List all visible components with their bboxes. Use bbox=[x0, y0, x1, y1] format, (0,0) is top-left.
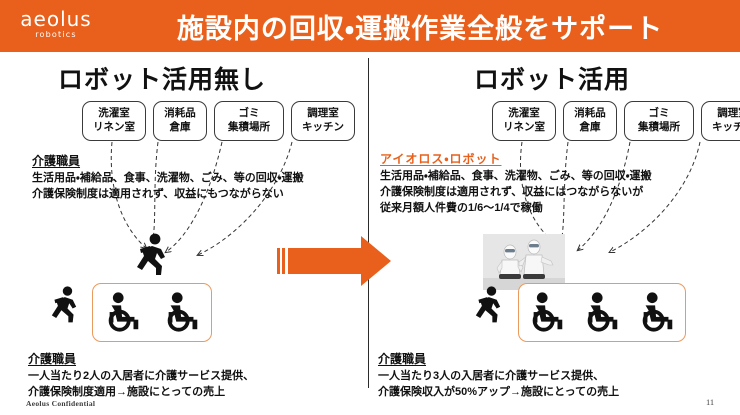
room-line-2: キッチン bbox=[302, 121, 344, 135]
room-line-1: 調理室 bbox=[307, 107, 339, 121]
right-top-line-3: 従来月額人件費の1/6～1/4で稼働 bbox=[380, 201, 651, 217]
room-box: ゴミ 集積場所 bbox=[214, 101, 284, 141]
right-top-line-2: 介護保険制度は適用されず、収益にはつながらないが bbox=[380, 185, 651, 201]
service-robot-illustration bbox=[483, 234, 565, 290]
room-box: 調理室 キッチン bbox=[291, 101, 355, 141]
room-line-2: リネン室 bbox=[503, 121, 545, 135]
room-box: 洗濯室 リネン室 bbox=[82, 101, 146, 141]
left-top-text-block: 介護職員 生活用品・補給品、食事、洗濯物、ごみ、等の回収・運搬 介護保険制度は適… bbox=[32, 152, 303, 203]
wheelchair-resident-icon bbox=[526, 291, 568, 335]
room-line-1: ゴミ bbox=[649, 107, 670, 121]
room-box: 調理室 キッチン bbox=[701, 101, 740, 141]
left-bottom-line-1: 一人当たり2人の入居者に介護サービス提供、 bbox=[28, 369, 254, 385]
wheelchair-resident-icon bbox=[161, 291, 203, 335]
room-box: 消耗品 倉庫 bbox=[563, 101, 617, 141]
slide: aeolus robotics 施設内の回収・運搬作業全般をサポート ロボット活… bbox=[0, 0, 740, 415]
room-line-2: キッチン bbox=[712, 121, 740, 135]
page-title: 施設内の回収・運搬作業全般をサポート bbox=[110, 0, 730, 52]
room-box: 洗濯室 リネン室 bbox=[492, 101, 556, 141]
right-bottom-line-2: 介護保険収入が50%アップ→施設にとっての売上 bbox=[378, 385, 619, 401]
running-caregiver-icon bbox=[128, 232, 174, 278]
room-line-1: 消耗品 bbox=[574, 107, 606, 121]
right-top-line-1: 生活用品・補給品、食事、洗濯物、ごみ、等の回収・運搬 bbox=[380, 169, 651, 185]
running-caregiver-icon bbox=[468, 285, 508, 325]
right-resident-group bbox=[518, 283, 686, 342]
left-resident-group bbox=[92, 283, 212, 342]
wheelchair-resident-icon bbox=[581, 291, 623, 335]
right-bottom-heading: 介護職員 bbox=[378, 350, 619, 367]
room-line-1: 消耗品 bbox=[164, 107, 196, 121]
right-bottom-line-1: 一人当たり3人の入居者に介護サービス提供、 bbox=[378, 369, 619, 385]
page-number: 11 bbox=[706, 397, 714, 407]
left-top-line-2: 介護保険制度は適用されず、収益にもつながらない bbox=[32, 187, 303, 203]
right-top-text-block: アイオロス・ロボット 生活用品・補給品、食事、洗濯物、ごみ、等の回収・運搬 介護… bbox=[380, 150, 651, 217]
left-room-boxes: 洗濯室 リネン室 消耗品 倉庫 ゴミ 集積場所 調理室 キッチン bbox=[82, 101, 355, 141]
room-line-1: 調理室 bbox=[717, 107, 740, 121]
left-bottom-text-block: 介護職員 一人当たり2人の入居者に介護サービス提供、 介護保険制度適用→施設にと… bbox=[28, 350, 254, 401]
room-line-2: 集積場所 bbox=[228, 121, 270, 135]
room-box: 消耗品 倉庫 bbox=[153, 101, 207, 141]
room-line-1: 洗濯室 bbox=[508, 107, 540, 121]
room-line-2: 集積場所 bbox=[638, 121, 680, 135]
left-top-heading: 介護職員 bbox=[32, 152, 303, 169]
running-caregiver-icon bbox=[44, 285, 84, 325]
room-line-2: 倉庫 bbox=[580, 121, 601, 135]
room-line-2: 倉庫 bbox=[170, 121, 191, 135]
room-line-2: リネン室 bbox=[93, 121, 135, 135]
room-box: ゴミ 集積場所 bbox=[624, 101, 694, 141]
logo-wordmark: aeolus bbox=[8, 9, 104, 29]
transition-arrow-icon bbox=[277, 234, 393, 288]
room-line-1: 洗濯室 bbox=[98, 107, 130, 121]
wheelchair-resident-icon bbox=[102, 291, 144, 335]
left-bottom-heading: 介護職員 bbox=[28, 350, 254, 367]
right-panel-heading: ロボット活用 bbox=[474, 60, 630, 96]
right-room-boxes: 洗濯室 リネン室 消耗品 倉庫 ゴミ 集積場所 調理室 キッチン bbox=[492, 101, 740, 141]
panel-divider bbox=[368, 58, 369, 388]
right-bottom-text-block: 介護職員 一人当たり3人の入居者に介護サービス提供、 介護保険収入が50%アップ… bbox=[378, 350, 619, 401]
room-line-1: ゴミ bbox=[239, 107, 260, 121]
confidential-notice: Aeolus Confidential bbox=[26, 399, 95, 408]
right-top-heading: アイオロス・ロボット bbox=[380, 150, 651, 167]
left-top-line-1: 生活用品・補給品、食事、洗濯物、ごみ、等の回収・運搬 bbox=[32, 171, 303, 187]
logo-subtext: robotics bbox=[8, 31, 104, 39]
left-panel-heading: ロボット活用無し bbox=[58, 60, 266, 96]
aeolus-logo: aeolus robotics bbox=[8, 9, 104, 43]
slide-header: aeolus robotics 施設内の回収・運搬作業全般をサポート bbox=[0, 0, 740, 52]
wheelchair-resident-icon bbox=[636, 291, 678, 335]
aeolus-robot-photo bbox=[483, 234, 565, 290]
